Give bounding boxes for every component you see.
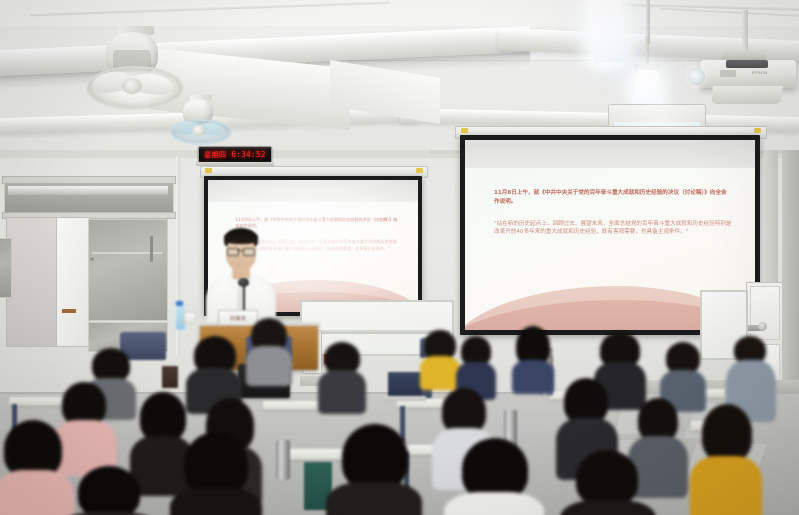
student	[318, 342, 366, 406]
led-clock-day: 星期四	[204, 152, 226, 159]
laptop	[388, 372, 422, 396]
thermos-flask	[276, 440, 290, 480]
student	[660, 342, 706, 404]
classroom-photo: EPSON 星期四 6:34:52	[0, 0, 799, 515]
student	[512, 326, 554, 384]
led-clock-time: 6:34:52	[231, 151, 265, 159]
side-window	[0, 238, 12, 298]
student	[170, 432, 262, 515]
eyeglasses	[243, 248, 255, 256]
student	[246, 318, 292, 378]
paper-cup[interactable]	[184, 312, 196, 324]
door-handle[interactable]	[758, 322, 767, 331]
student	[444, 438, 544, 515]
right-slide-line-2: "站在新的历史起点上，回顾过去、展望未来，全面总结党的百年奋斗重大成就和历史经验…	[494, 220, 732, 237]
student	[60, 466, 158, 515]
right-slide-line-1: 11月8日上午，就《中共中央关于党的百年奋斗重大成就和历史经验的决议（讨论稿）》…	[494, 189, 732, 206]
microphone	[238, 278, 249, 287]
door-glass-panel	[750, 286, 780, 340]
student	[456, 336, 496, 392]
student	[690, 404, 762, 515]
projector-brand-label: EPSON	[752, 70, 768, 75]
door-glass-panel	[88, 219, 168, 321]
student-desk	[262, 400, 322, 410]
student	[420, 330, 460, 384]
nameplate-text: 刘海龙	[230, 315, 246, 322]
student	[186, 336, 242, 406]
student	[326, 424, 422, 515]
tote-bag	[162, 366, 178, 388]
ceiling-fan	[170, 95, 250, 151]
student	[560, 450, 656, 515]
